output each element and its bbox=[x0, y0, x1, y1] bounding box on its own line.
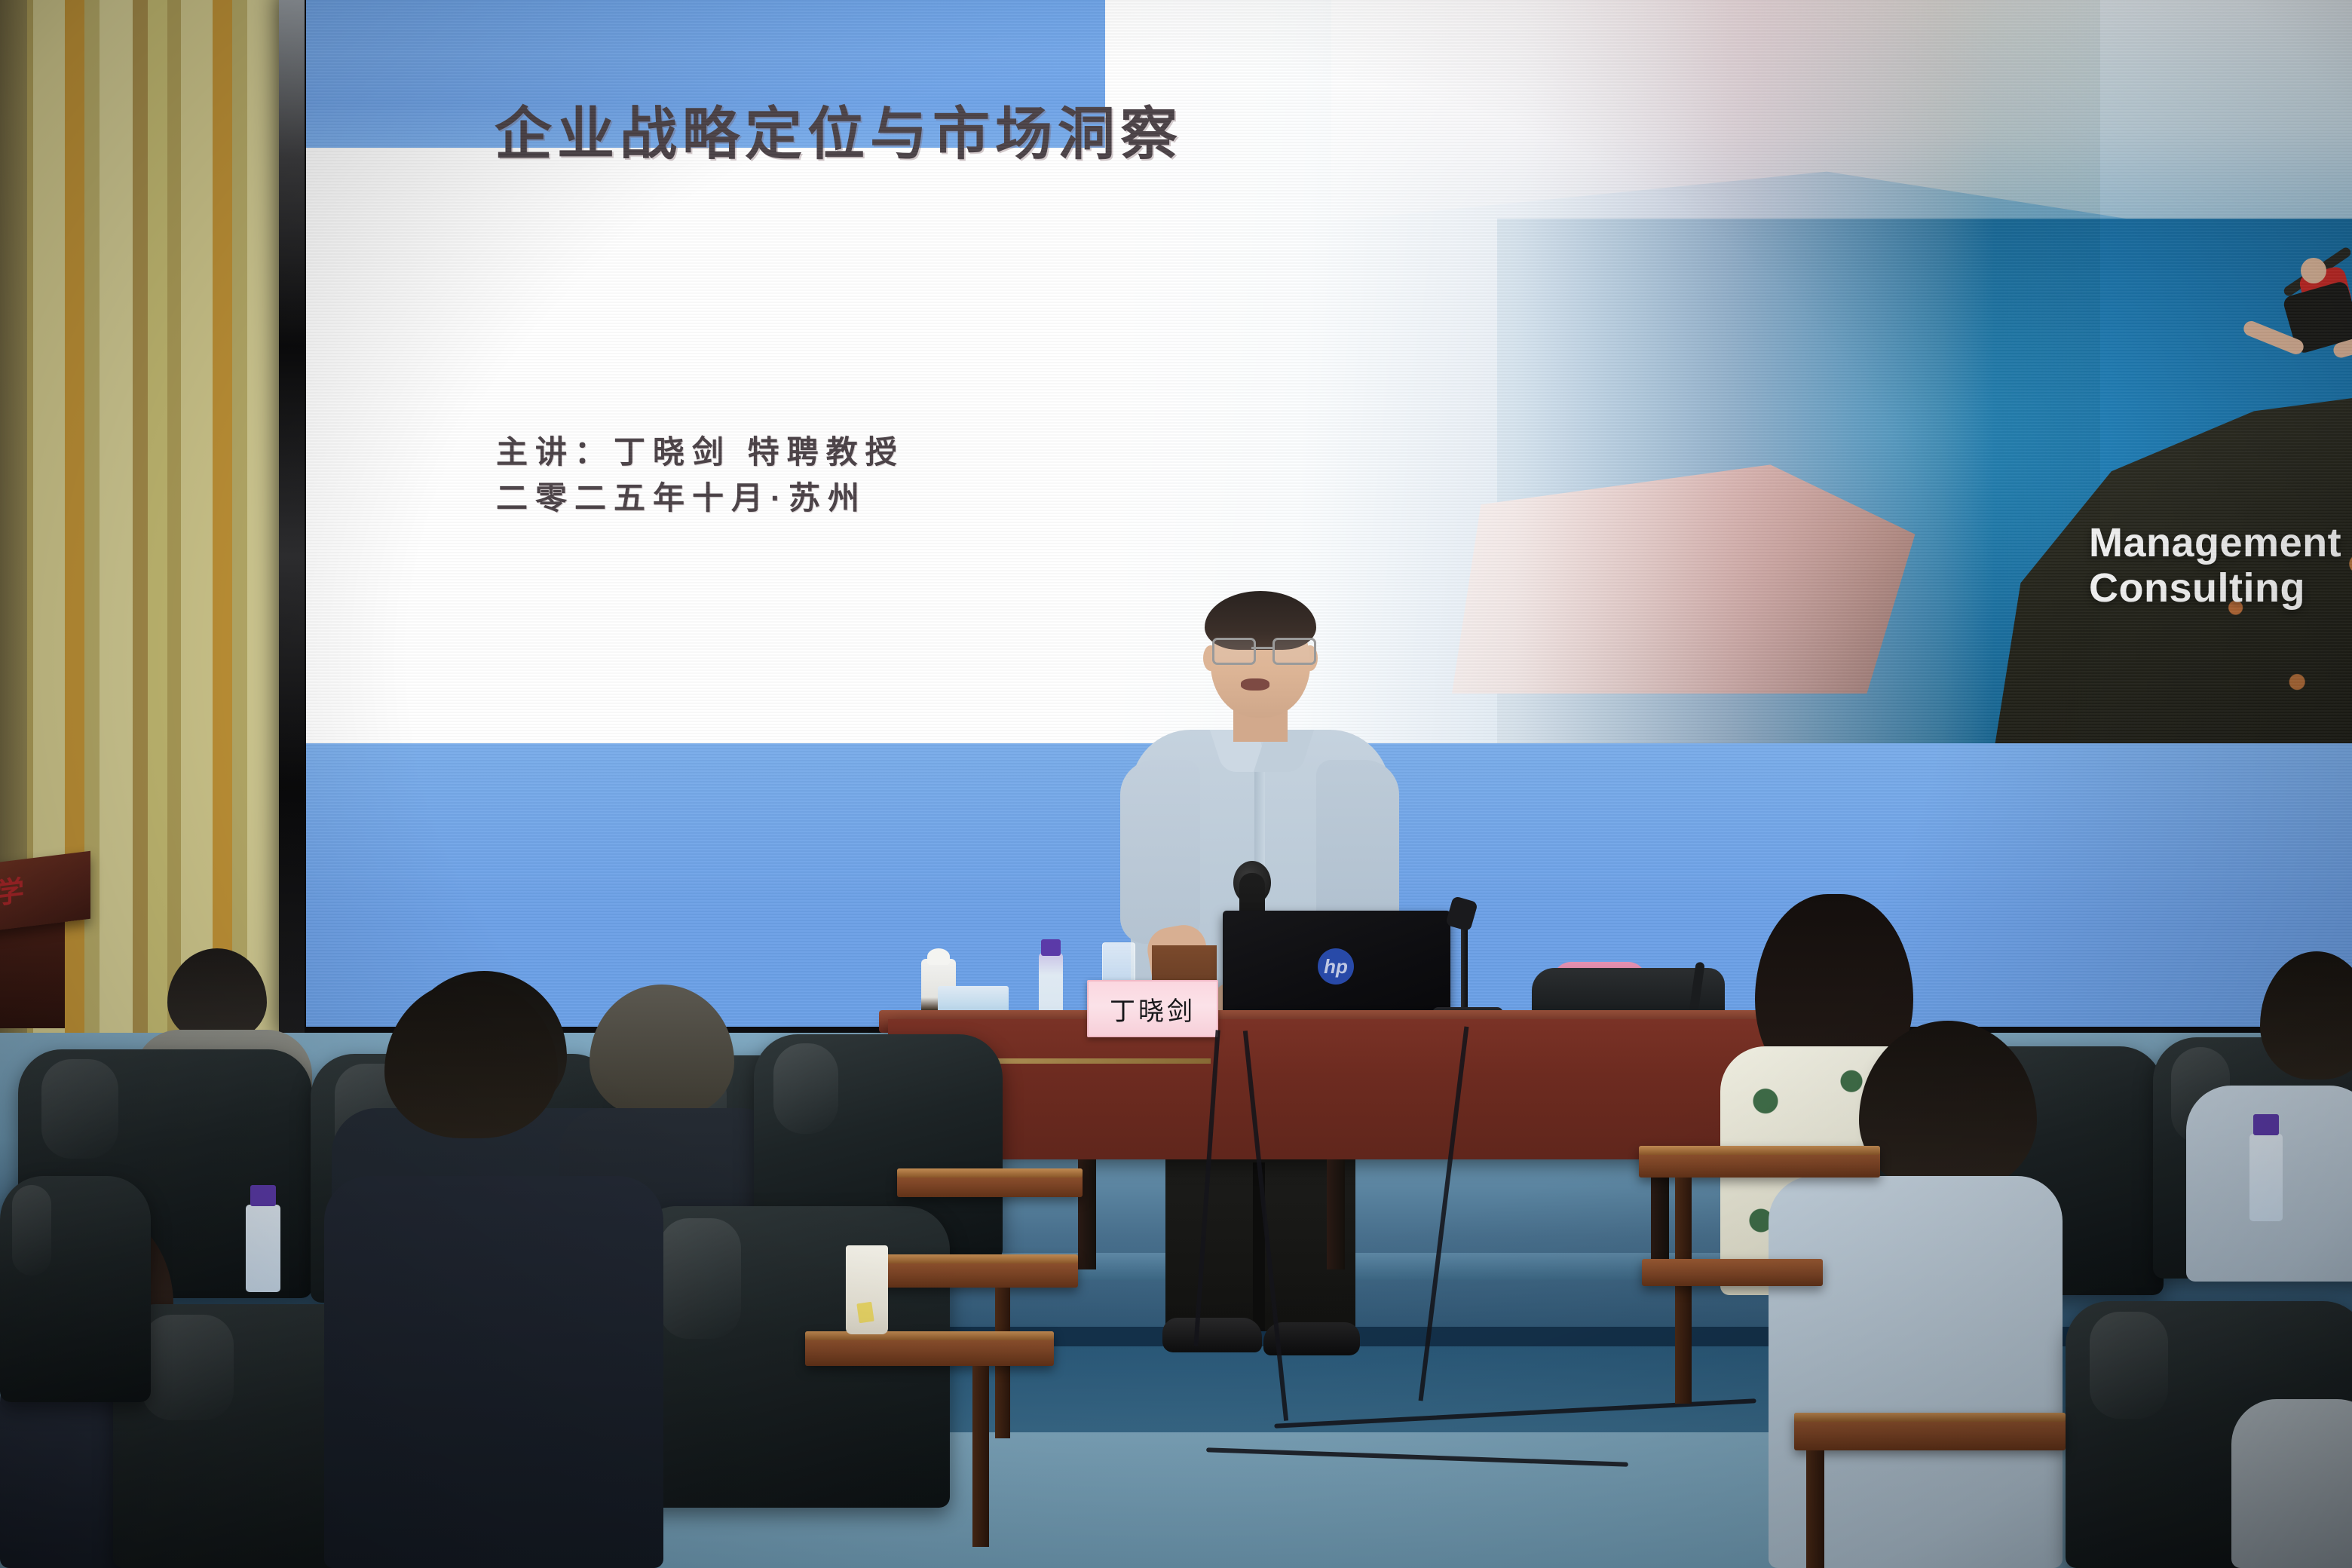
water-bottle-cap bbox=[1041, 939, 1061, 956]
photo-leaping-hiker bbox=[2206, 241, 2352, 452]
seat-far-left bbox=[0, 1176, 151, 1402]
caption-line-1: Management bbox=[2089, 520, 2341, 565]
audience-desk-left-1-edge bbox=[859, 1254, 1078, 1263]
nameplate: 丁晓剑 bbox=[1087, 980, 1218, 1037]
glasses-icon bbox=[1208, 638, 1318, 662]
glasses-lens-left bbox=[1212, 638, 1256, 665]
glasses-bridge bbox=[1251, 647, 1272, 649]
podium-body bbox=[0, 917, 65, 1028]
subtitle-line-date: 二零二五年十月·苏州 bbox=[496, 476, 905, 522]
glasses-lens-right bbox=[1272, 638, 1316, 665]
podium-emblem: 学 bbox=[0, 866, 29, 903]
hiker-head bbox=[2301, 258, 2326, 283]
presenter-mouth bbox=[1241, 678, 1269, 691]
lecture-hall-photo: Management Consulting 企业战略定位与市场洞察 主讲：丁晓剑… bbox=[0, 0, 2352, 1568]
audience-desk-right-1-leg bbox=[1675, 1178, 1692, 1404]
subtitle-line-speaker: 主讲：丁晓剑 特聘教授 bbox=[496, 430, 905, 476]
caption-line-2: Consulting bbox=[2089, 565, 2341, 611]
nameplate-text: 丁晓剑 bbox=[1110, 991, 1196, 1027]
head-table bbox=[888, 1019, 1764, 1159]
audience-desk-right-1-edge bbox=[1639, 1146, 1880, 1155]
slide-title: 企业战略定位与市场洞察 bbox=[495, 87, 1183, 170]
paper-cup bbox=[846, 1245, 888, 1334]
audience-desk-left-3-edge bbox=[897, 1168, 1083, 1178]
water-bottle-audience-1 bbox=[246, 1205, 280, 1292]
audience-desk-left-2-edge bbox=[805, 1331, 1054, 1340]
audience-desk-right-2-leg bbox=[1806, 1450, 1824, 1568]
audience-torso-front-center bbox=[324, 1176, 663, 1568]
jar-lid bbox=[927, 948, 950, 965]
audience-desk-left-2-leg bbox=[972, 1366, 989, 1547]
presenter-shoe-left bbox=[1162, 1318, 1262, 1352]
water-bottle-audience-2 bbox=[2249, 1134, 2283, 1221]
audience-desk-right-2-edge bbox=[1794, 1413, 2066, 1422]
slide-caption: Management Consulting bbox=[2089, 520, 2341, 611]
slide-subtitle: 主讲：丁晓剑 特聘教授 二零二五年十月·苏州 bbox=[496, 430, 905, 522]
audience-desk-right-3 bbox=[1642, 1259, 1823, 1286]
hp-logo-icon: hp bbox=[1318, 948, 1354, 985]
head-table-leg-mid bbox=[1327, 1159, 1345, 1269]
presenter-sleeve-left bbox=[1120, 760, 1200, 944]
audience-torso-right-front bbox=[2231, 1399, 2352, 1568]
